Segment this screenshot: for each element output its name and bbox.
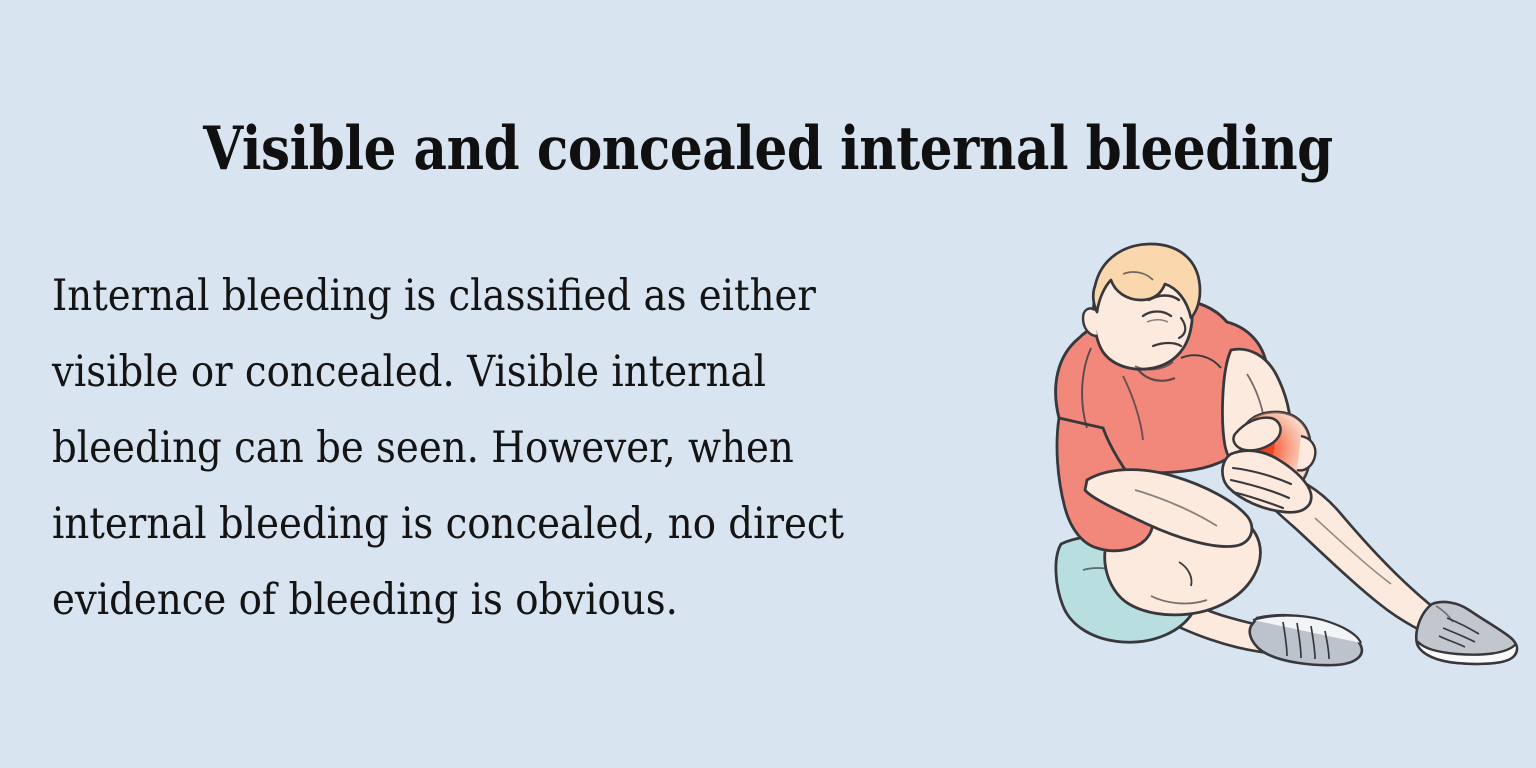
body-line-2: visible or concealed. Visible internal — [52, 334, 880, 410]
sneaker — [1416, 602, 1517, 664]
sock — [1250, 615, 1362, 665]
slide-root: Visible and concealed internal bleeding … — [0, 0, 1536, 768]
body-line-3: bleeding can be seen. However, when — [52, 410, 880, 486]
injured-knee-illustration — [995, 222, 1525, 672]
body-line-4: internal bleeding is concealed, no direc… — [52, 486, 880, 562]
body-line-5: evidence of bleeding is obvious. — [52, 562, 880, 638]
body-text-block: Internal bleeding is classified as eithe… — [52, 258, 880, 638]
body-line-1: Internal bleeding is classified as eithe… — [52, 258, 880, 334]
man-holding-knee-svg — [995, 222, 1525, 672]
page-title: Visible and concealed internal bleeding — [108, 118, 1429, 181]
